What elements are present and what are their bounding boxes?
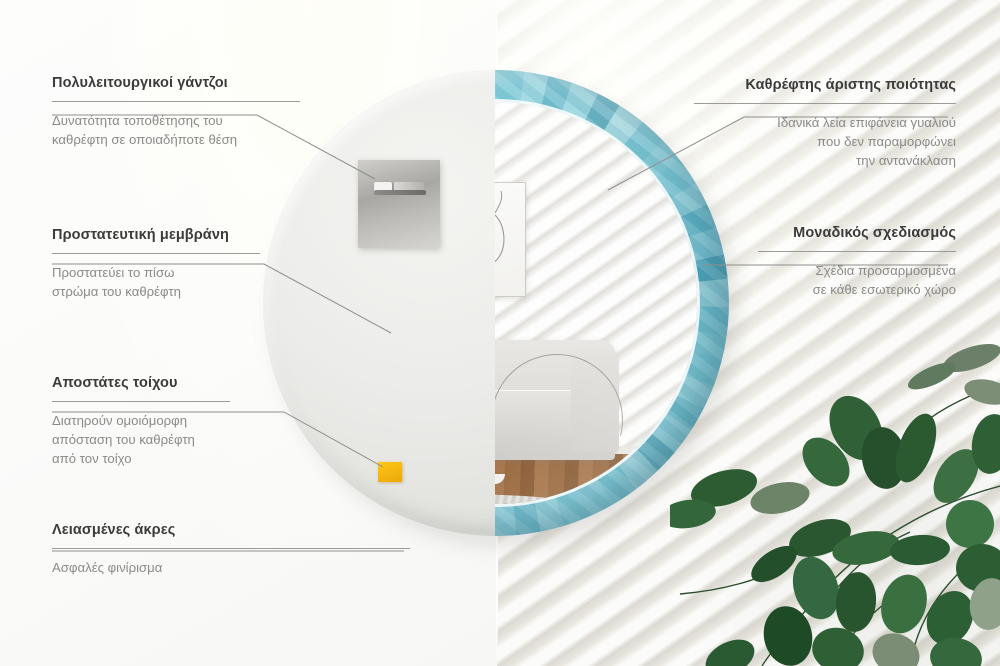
callout-body-line: την αντανάκλαση xyxy=(856,153,956,168)
callout-body-line: που δεν παραμορφώνει xyxy=(817,134,956,149)
callout-rule xyxy=(52,253,260,254)
callout-body: Σχέδια προσαρμοσμένα σε κάθε εσωτερικό χ… xyxy=(758,261,956,299)
callout-body: Προστατεύει το πίσω στρώμα του καθρέφτη xyxy=(52,263,260,301)
hook-bracket xyxy=(374,190,426,195)
callout-title: Λειασμένες άκρες xyxy=(52,521,410,539)
callout-body-line: Διατηρούν ομοιόμορφη xyxy=(52,413,187,428)
callout-rule xyxy=(758,251,956,252)
foliage-decoration xyxy=(670,336,1000,666)
callout-title: Μοναδικός σχεδιασμός xyxy=(758,224,956,242)
callout-unique-design: Μοναδικός σχεδιασμός Σχέδια προσαρμοσμέν… xyxy=(758,224,956,299)
callout-body-line: από τον τοίχο xyxy=(52,451,132,466)
callout-body-line: στρώμα του καθρέφτη xyxy=(52,284,181,299)
callout-body-line: απόσταση του καθρέφτη xyxy=(52,432,195,447)
callout-title: Πολυλειτουργικοί γάντζοι xyxy=(52,74,300,92)
callout-rule xyxy=(52,401,230,402)
callout-body-line: Προστατεύει το πίσω xyxy=(52,265,174,280)
leaf-cluster xyxy=(670,338,1000,666)
callout-rule xyxy=(694,103,956,104)
callout-body-line: Δυνατότητα τοποθέτησης του xyxy=(52,113,223,128)
product-feature-infographic: Πολυλειτουργικοί γάντζοι Δυνατότητα τοπο… xyxy=(0,0,1000,666)
callout-body: Διατηρούν ομοιόμορφη απόσταση του καθρέφ… xyxy=(52,411,230,468)
callout-title: Καθρέφτης άριστης ποιότητας xyxy=(694,76,956,94)
callout-rule xyxy=(52,548,410,549)
callout-body-line: σε κάθε εσωτερικό χώρο xyxy=(813,282,956,297)
callout-title: Αποστάτες τοίχου xyxy=(52,374,230,392)
callout-multifunctional-hooks: Πολυλειτουργικοί γάντζοι Δυνατότητα τοπο… xyxy=(52,74,300,149)
callout-rule xyxy=(52,101,300,102)
callout-body: Ασφαλές φινίρισμα xyxy=(52,558,410,577)
callout-body: Ιδανικά λεία επιφάνεια γυαλιού που δεν π… xyxy=(694,113,956,170)
callout-protective-membrane: Προστατευτική μεμβράνη Προστατεύει το πί… xyxy=(52,226,260,301)
callout-top-quality-mirror: Καθρέφτης άριστης ποιότητας Ιδανικά λεία… xyxy=(694,76,956,171)
callout-body-line: καθρέφτη σε οποιαδήποτε θέση xyxy=(52,132,237,147)
callout-wall-spacers: Αποστάτες τοίχου Διατηρούν ομοιόμορφη απ… xyxy=(52,374,230,469)
wall-spacer-pad xyxy=(378,462,402,482)
callout-body-line: Ασφαλές φινίρισμα xyxy=(52,560,162,575)
hook-bracket-highlight xyxy=(394,182,424,190)
callout-smoothed-edges: Λειασμένες άκρες Ασφαλές φινίρισμα xyxy=(52,521,410,577)
callout-body: Δυνατότητα τοποθέτησης του καθρέφτη σε ο… xyxy=(52,111,300,149)
callout-body-line: Ιδανικά λεία επιφάνεια γυαλιού xyxy=(777,115,956,130)
mounting-hook-plate xyxy=(358,160,440,248)
callout-title: Προστατευτική μεμβράνη xyxy=(52,226,260,244)
callout-body-line: Σχέδια προσαρμοσμένα xyxy=(816,263,956,278)
round-mirror-product xyxy=(263,70,729,536)
